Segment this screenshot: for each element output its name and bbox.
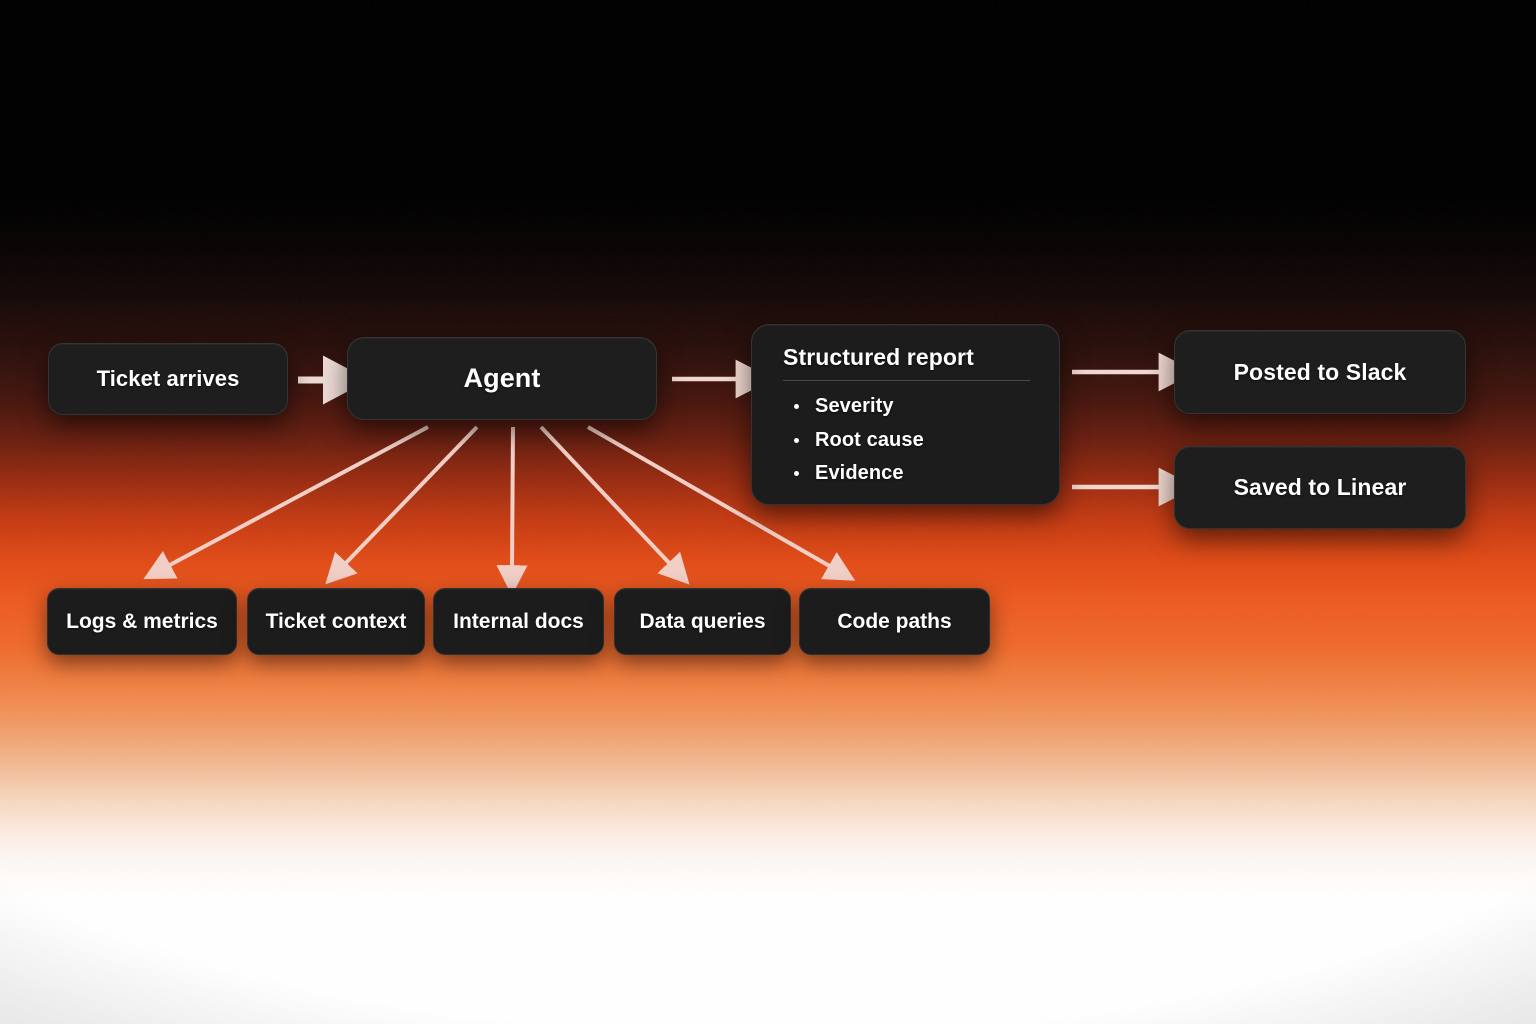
node-ticket-arrives[interactable]: Ticket arrives: [48, 343, 288, 415]
node-ticket-arrives-label: Ticket arrives: [97, 366, 240, 392]
structured-report-divider: [783, 380, 1030, 381]
structured-report-list: Severity Root cause Evidence: [783, 390, 1035, 490]
node-agent-label: Agent: [464, 363, 541, 394]
node-code-paths-label: Code paths: [837, 610, 951, 634]
structured-report-item-severity: Severity: [791, 390, 1035, 423]
node-internal-docs[interactable]: Internal docs: [433, 588, 604, 655]
structured-report-item-evidence: Evidence: [791, 457, 1035, 490]
diagram-canvas: Ticket arrives Agent Structured report S…: [0, 0, 1536, 1024]
node-posted-to-slack-label: Posted to Slack: [1234, 359, 1407, 386]
node-posted-to-slack[interactable]: Posted to Slack: [1174, 330, 1466, 414]
node-ticket-context[interactable]: Ticket context: [247, 588, 425, 655]
structured-report-item-root-cause: Root cause: [791, 424, 1035, 457]
node-structured-report[interactable]: Structured report Severity Root cause Ev…: [751, 324, 1060, 505]
node-ticket-context-label: Ticket context: [266, 610, 407, 634]
node-saved-to-linear-label: Saved to Linear: [1234, 474, 1407, 501]
node-logs-and-metrics-label: Logs & metrics: [66, 610, 218, 634]
node-logs-and-metrics[interactable]: Logs & metrics: [47, 588, 237, 655]
node-saved-to-linear[interactable]: Saved to Linear: [1174, 446, 1466, 529]
node-internal-docs-label: Internal docs: [453, 610, 584, 634]
structured-report-title: Structured report: [783, 344, 1035, 380]
node-data-queries[interactable]: Data queries: [614, 588, 791, 655]
node-code-paths[interactable]: Code paths: [799, 588, 990, 655]
node-data-queries-label: Data queries: [639, 610, 765, 634]
node-agent[interactable]: Agent: [347, 337, 657, 420]
